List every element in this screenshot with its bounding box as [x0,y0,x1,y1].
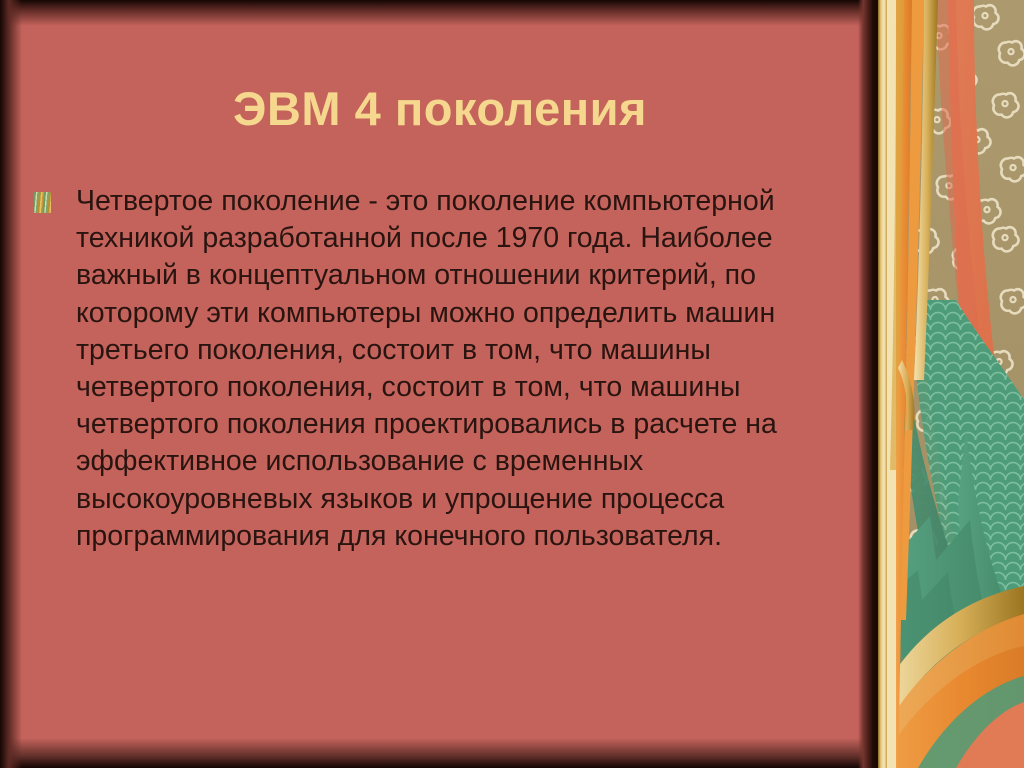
bullet-text: Четвертое поколение - это поколение комп… [76,183,854,555]
slide-canvas: ЭВМ 4 поколения Четвертое поколение - эт… [0,0,1024,768]
panel-gold-edge [878,0,883,768]
slide-body: Четвертое поколение - это поколение комп… [34,183,854,555]
slide-edge-bottom [0,738,1024,768]
floral-border-panel [878,0,1024,768]
decorative-square-bullet-icon [34,192,51,213]
bullet-paragraph: Четвертое поколение - это поколение комп… [76,183,854,555]
slide-title: ЭВМ 4 поколения [40,83,840,135]
slide-edge-left [0,0,22,768]
bullet-list-item: Четвертое поколение - это поколение комп… [34,183,854,555]
slide-edge-top [0,0,1024,26]
